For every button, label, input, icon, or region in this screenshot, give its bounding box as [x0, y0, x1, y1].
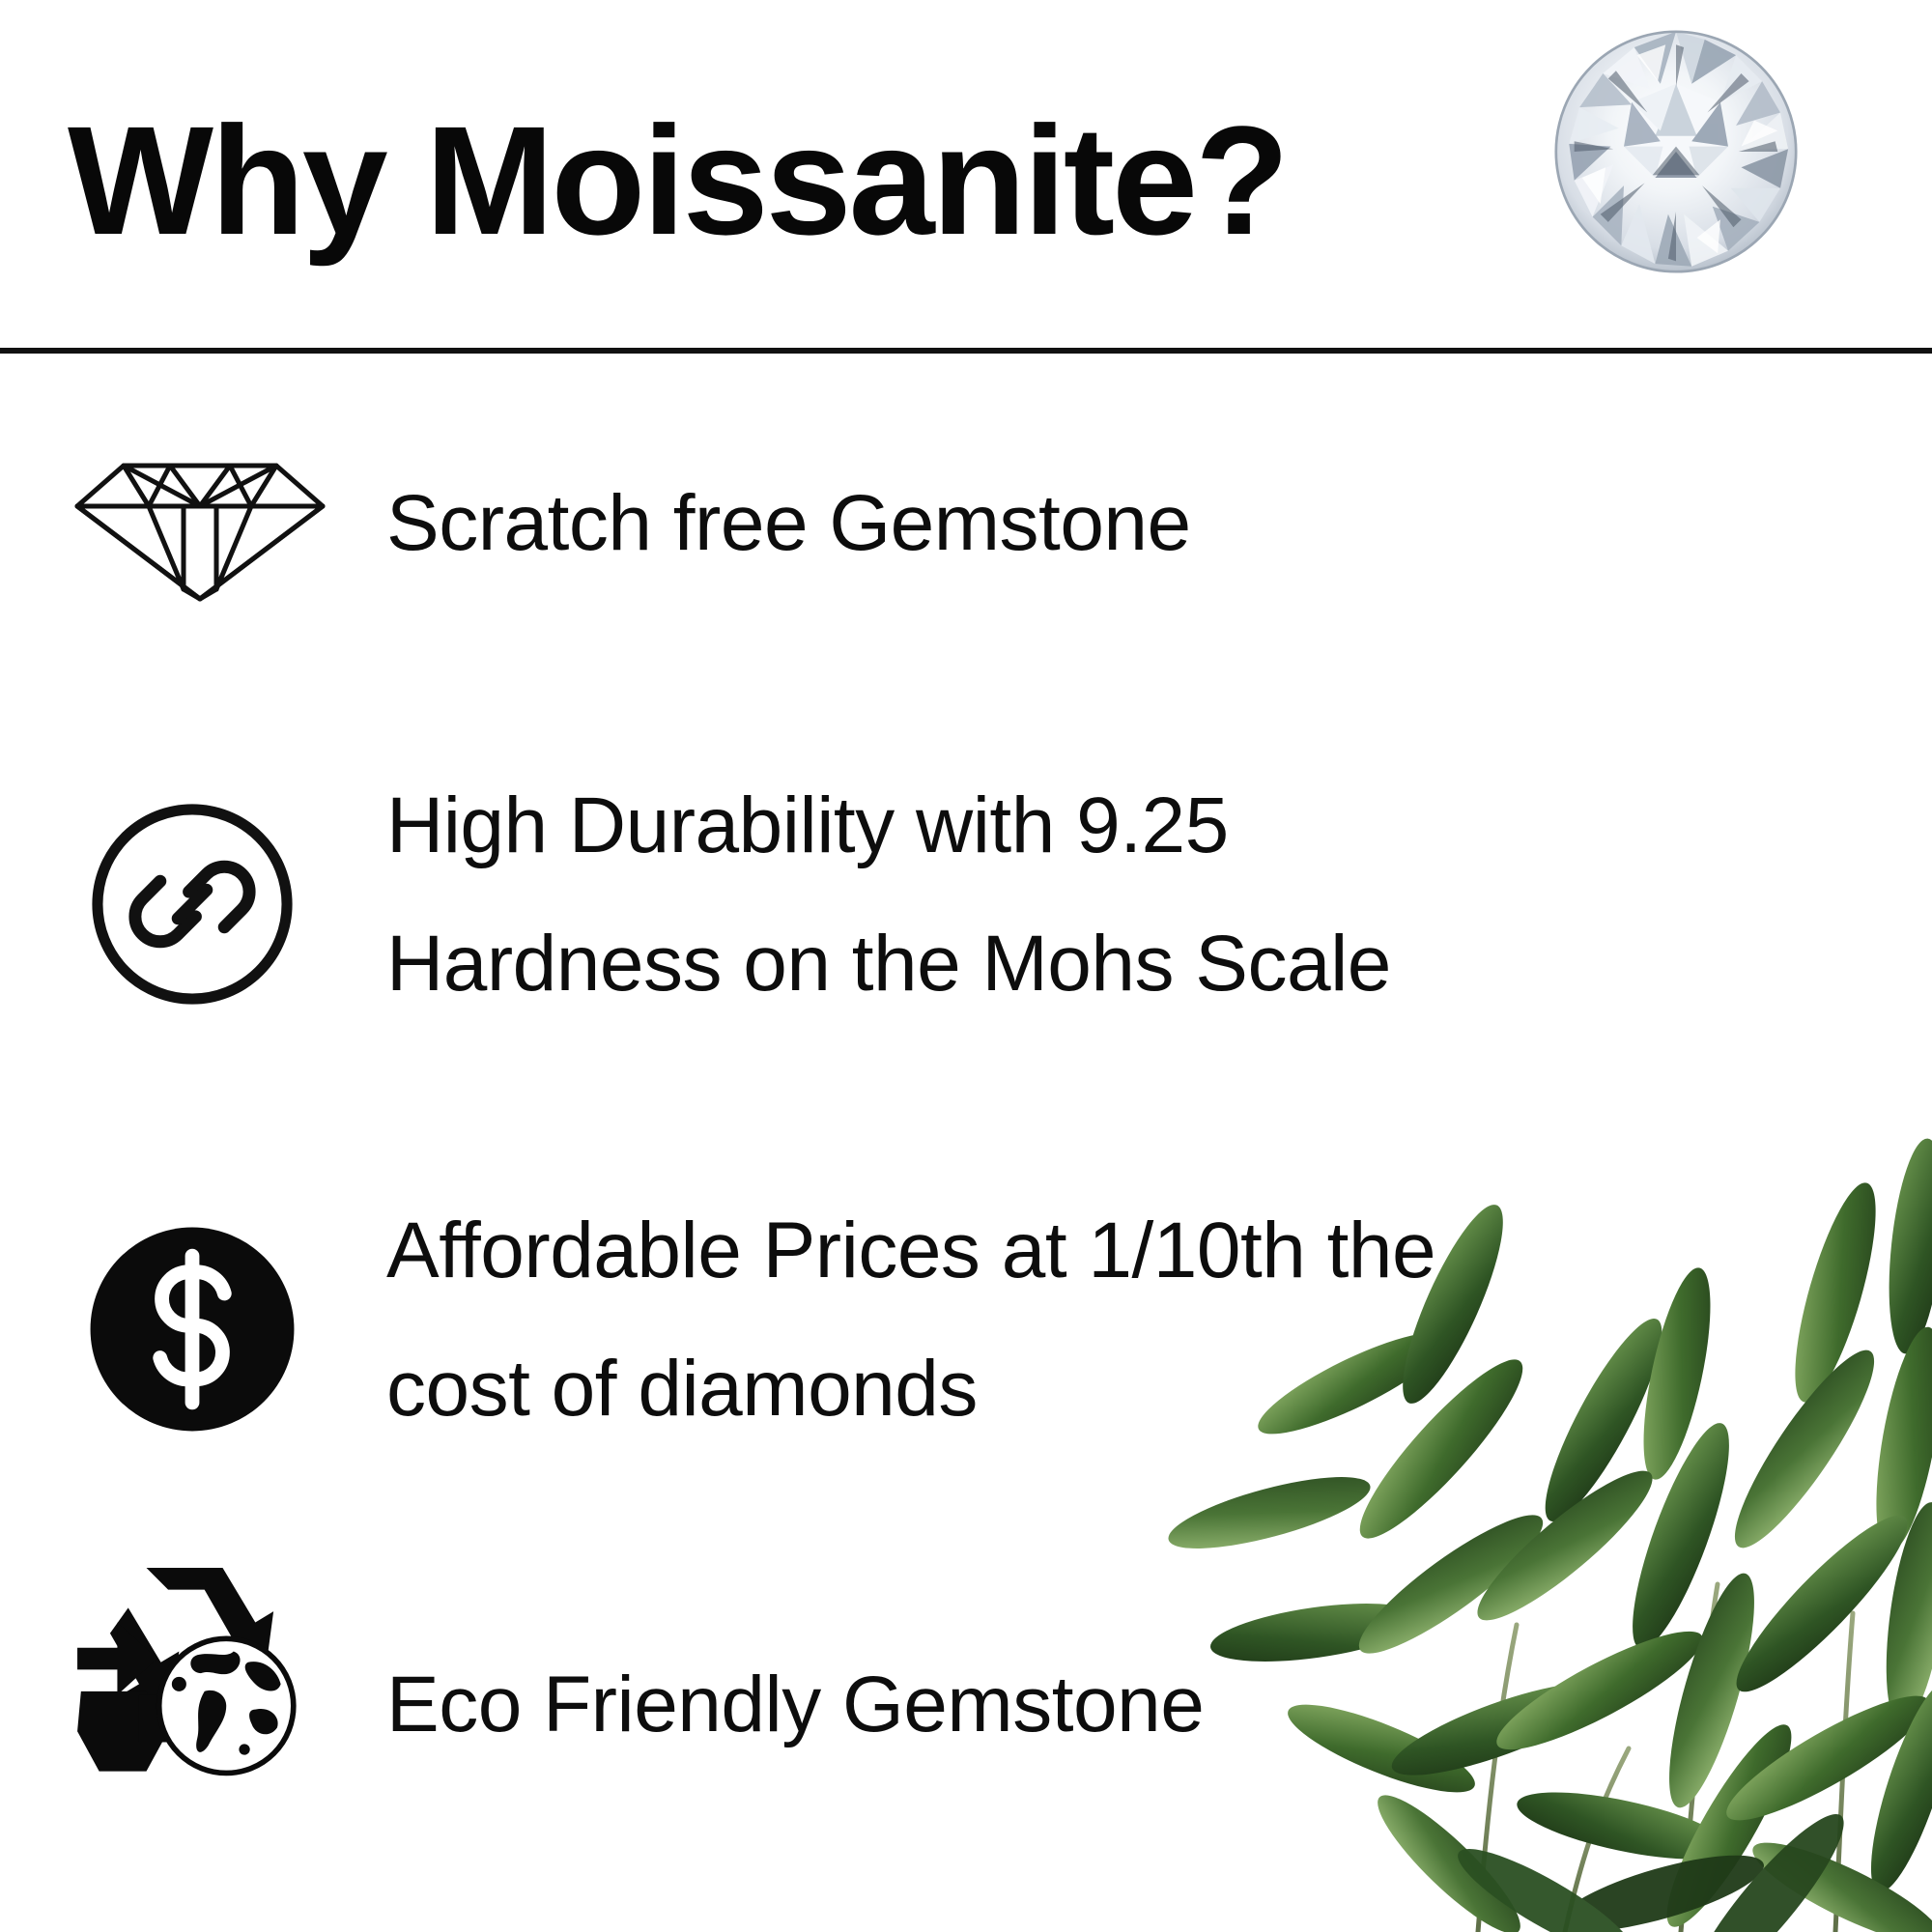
feature-label-durability: High Durability with 9.25 Hardness on th… — [386, 756, 1391, 1033]
feature-row-eco-friendly: Eco Friendly Gemstone — [0, 1553, 1932, 1872]
infographic-page: Why Moissanite? — [0, 0, 1932, 1932]
feature-row-affordable-price: Affordable Prices at 1/10th the cost of … — [0, 1181, 1932, 1529]
feature-list: Scratch free Gemstone High Durability wi… — [0, 351, 1932, 1932]
diamond-outline-icon — [70, 452, 330, 607]
header: Why Moissanite? — [0, 0, 1932, 351]
moissanite-gem-image — [1546, 21, 1806, 282]
page-title: Why Moissanite? — [68, 99, 1287, 263]
feature-label-affordable-price: Affordable Prices at 1/10th the cost of … — [386, 1181, 1435, 1458]
recycle-globe-icon — [64, 1553, 305, 1780]
feature-row-scratch-free: Scratch free Gemstone — [0, 433, 1932, 752]
feature-row-durability: High Durability with 9.25 Hardness on th… — [0, 756, 1932, 1085]
dollar-coin-icon — [85, 1222, 299, 1436]
feature-label-scratch-free: Scratch free Gemstone — [386, 454, 1191, 592]
link-circle-icon — [85, 797, 299, 1011]
feature-label-eco-friendly: Eco Friendly Gemstone — [386, 1635, 1204, 1774]
